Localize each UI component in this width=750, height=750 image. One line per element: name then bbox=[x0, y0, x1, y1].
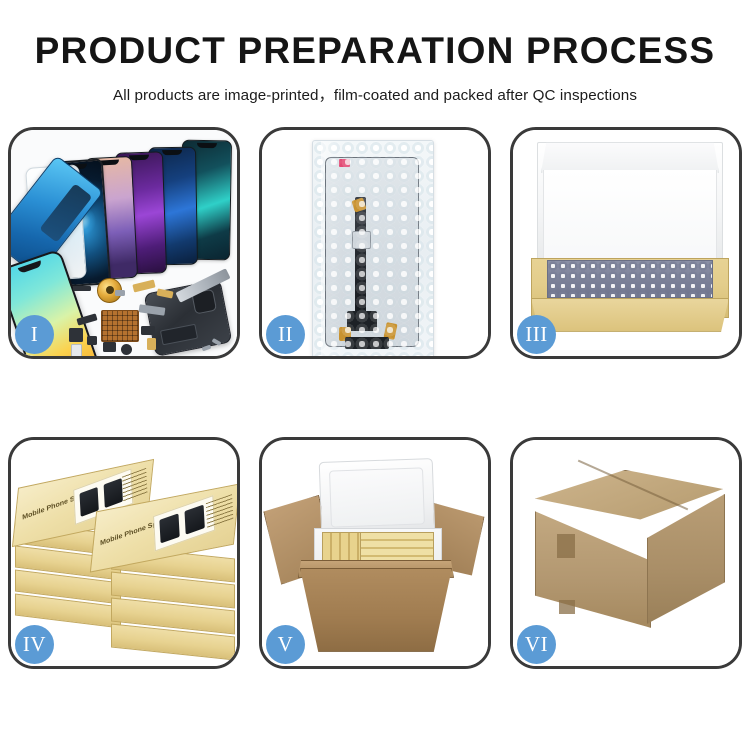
box-inner-wall bbox=[543, 170, 717, 264]
sim-tray-part bbox=[71, 344, 82, 356]
step-badge-1: I bbox=[15, 315, 54, 354]
step-badge-3: III bbox=[517, 315, 556, 354]
step-badge-2: II bbox=[266, 315, 305, 354]
page-title: PRODUCT PREPARATION PROCESS bbox=[0, 32, 750, 71]
small-part bbox=[115, 290, 125, 296]
page-subtitle: All products are image-printed，film-coat… bbox=[0, 83, 750, 105]
small-part bbox=[141, 326, 155, 335]
small-part bbox=[73, 286, 91, 291]
step-badge-6: VI bbox=[517, 625, 556, 664]
driver-ic-chip bbox=[347, 311, 377, 331]
phone-notch-icon bbox=[162, 150, 182, 155]
foam-box-lid bbox=[319, 458, 436, 538]
battery-strip bbox=[160, 324, 198, 346]
contact-grid-part bbox=[101, 310, 139, 342]
flex-board bbox=[345, 337, 389, 349]
small-part bbox=[103, 342, 116, 352]
speaker-part bbox=[121, 344, 132, 355]
phone-notch-icon bbox=[197, 143, 217, 148]
process-step-panel-3[interactable]: III bbox=[510, 127, 742, 359]
carton-tape-patch bbox=[559, 600, 575, 614]
process-step-panel-1[interactable]: I bbox=[8, 127, 240, 359]
screen-flex-cable bbox=[355, 197, 366, 317]
process-step-panel-4[interactable]: Mobile Phone Spare Parts Mobile Phone Sp… bbox=[8, 437, 240, 669]
process-step-panel-6[interactable]: VI bbox=[510, 437, 742, 669]
small-part bbox=[147, 338, 156, 350]
process-steps-grid: I II bbox=[0, 127, 750, 669]
small-part bbox=[69, 328, 83, 342]
bubble-wrap-bag bbox=[312, 140, 434, 356]
kraft-box-front-panel bbox=[531, 298, 729, 332]
bubble-foam-padding bbox=[547, 260, 713, 298]
box-lid-fold bbox=[541, 142, 719, 173]
step-badge-4: IV bbox=[15, 625, 54, 664]
pink-seal-tab bbox=[339, 159, 350, 167]
process-step-panel-5[interactable]: V bbox=[259, 437, 491, 669]
small-part bbox=[87, 336, 97, 345]
phone-notch-icon bbox=[129, 155, 149, 161]
box-label-phone-image bbox=[104, 478, 123, 508]
page-header: PRODUCT PREPARATION PROCESS All products… bbox=[0, 0, 750, 105]
carton-tape-patch bbox=[557, 534, 575, 558]
process-step-panel-2[interactable]: II bbox=[259, 127, 491, 359]
box-label-phone-image bbox=[159, 513, 179, 543]
box-label-phone-image bbox=[184, 504, 204, 534]
step-badge-5: V bbox=[266, 625, 305, 664]
carton-body bbox=[300, 568, 452, 652]
